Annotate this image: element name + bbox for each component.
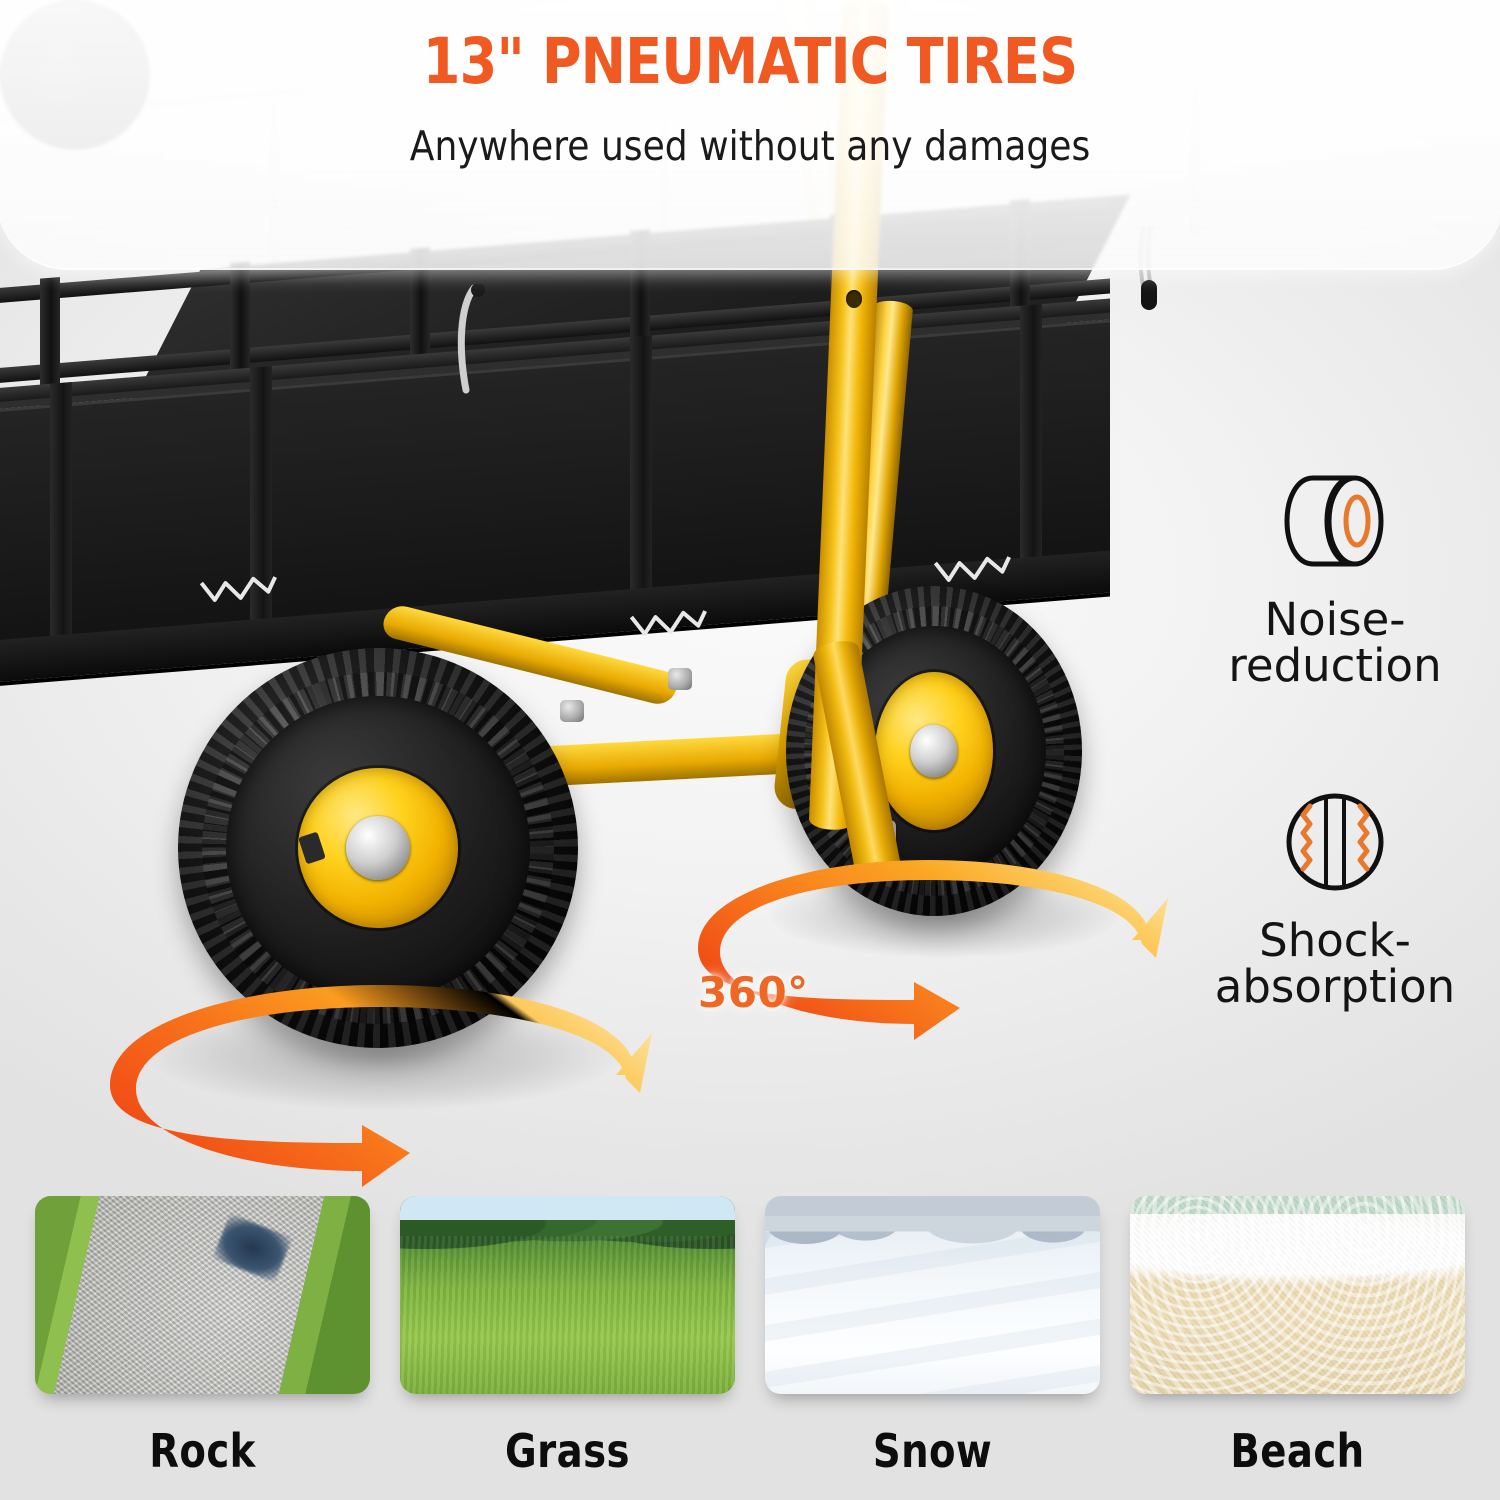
feature-shock-absorption: Shock- absorption [1185,776,1485,1011]
feature-label: Noise- reduction [1185,597,1485,690]
rock-terrain-thumbnail[interactable] [35,1196,370,1394]
terrain-item-grass[interactable]: Grass [400,1196,735,1496]
beach-terrain-thumbnail[interactable] [1130,1196,1465,1394]
terrain-item-snow[interactable]: Snow [765,1196,1100,1496]
feature-label: Shock- absorption [1185,918,1485,1011]
rotation-arrow-rear [80,975,660,1190]
handle-bolt-hole [846,290,862,308]
side-panel-stile [630,335,652,609]
snow-terrain-thumbnail[interactable] [765,1196,1100,1394]
page-subtitle: Anywhere used without any damages [86,124,1413,169]
wheel-hub [346,816,410,880]
terrain-label: Grass [427,1424,708,1478]
side-panel-latch-hook [195,569,283,610]
header-banner: 13" PNEUMATIC TIRES Anywhere used withou… [0,0,1500,268]
terrain-label: Beach [1157,1424,1438,1478]
feature-noise-reduction: Noise- reduction [1185,455,1485,690]
side-panel-stile [50,382,72,656]
marketing-image-canvas: 360° 13" PNEUMATIC TIRES Anywhere used w… [0,0,1500,1500]
feature-list: Noise- reduction Shock- absorption [1185,455,1485,1096]
terrain-item-beach[interactable]: Beach [1130,1196,1465,1496]
tire-shock-absorption-icon [1185,776,1485,908]
rotation-degrees-label: 360° [698,968,809,1017]
page-title: 13" PNEUMATIC TIRES [102,30,1399,93]
terrain-label: Rock [62,1424,343,1478]
wheel-hub [910,725,957,778]
frame-bolt [560,700,584,722]
terrain-item-rock[interactable]: Rock [35,1196,370,1496]
terrain-gallery: Rock Grass Snow Beach [0,1196,1500,1496]
panel-release-lever [452,284,488,396]
side-panel-stile [1020,304,1042,578]
terrain-label: Snow [792,1424,1073,1478]
frame-bolt [668,668,692,690]
tire-noise-icon [1185,455,1485,587]
grass-terrain-thumbnail[interactable] [400,1196,735,1394]
